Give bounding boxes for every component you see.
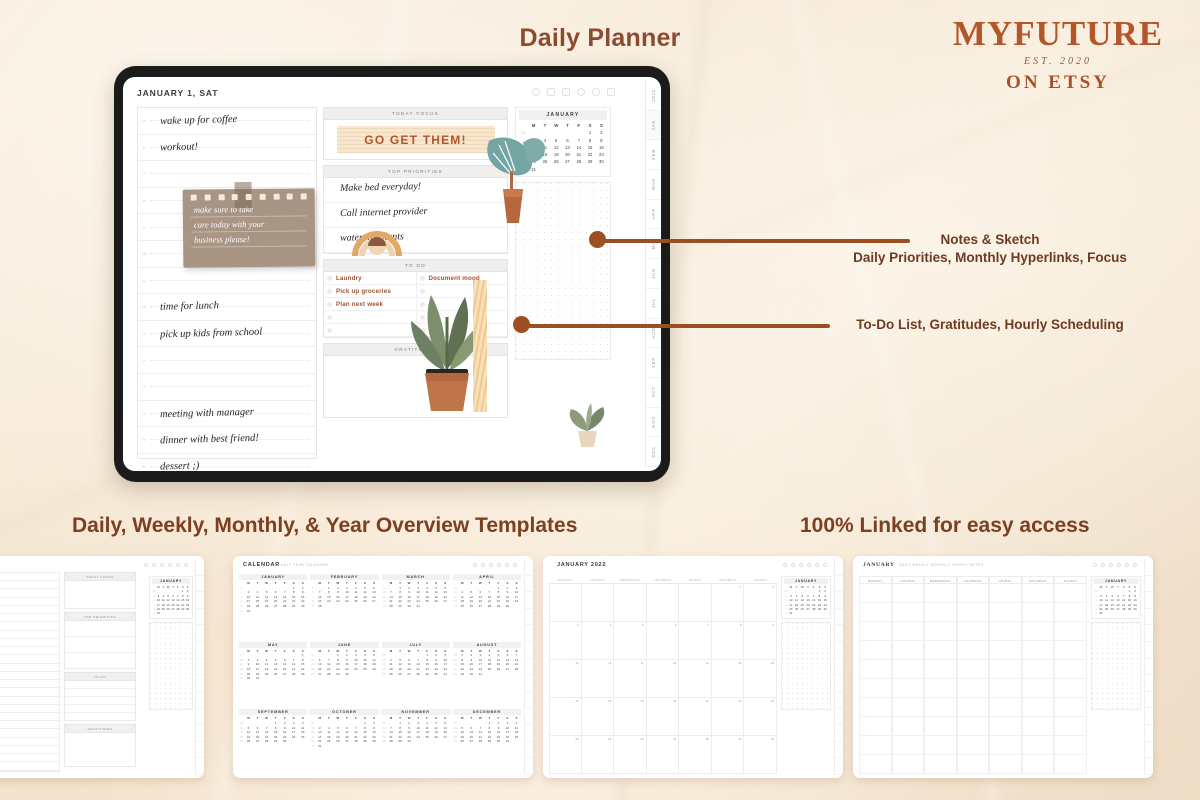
calendar-day[interactable]: [822, 611, 828, 615]
calendar-day[interactable]: 15: [584, 144, 595, 151]
month-day-cell[interactable]: 13: [647, 660, 680, 698]
calendar-day[interactable]: 28: [387, 604, 396, 609]
thumb-month-tab[interactable]: [1144, 675, 1153, 692]
calendar-day[interactable]: 30: [432, 672, 441, 677]
thumbnail-year-template[interactable]: CALENDAR HALF YEAR CALENDAR JANUARYMTWTF…: [233, 556, 533, 778]
calendar-day[interactable]: 28: [262, 739, 271, 744]
thumbnail-weekly-template[interactable]: JANUARY DAILY WEEKLY MONTHLY YEARLY NOTE…: [853, 556, 1153, 778]
month-day-cell[interactable]: 28: [679, 736, 712, 774]
thumb-month-tabs[interactable]: [195, 559, 204, 775]
week-day-cell[interactable]: [924, 736, 957, 755]
checkbox-icon[interactable]: [327, 328, 332, 333]
month-day-cell[interactable]: [582, 584, 615, 622]
hourly-row[interactable]: 11: [138, 268, 316, 295]
week-day-cell[interactable]: [924, 641, 957, 660]
checkbox-icon[interactable]: [327, 276, 332, 281]
hourly-schedule[interactable]: 5wake up for coffee6workout!789101112tim…: [137, 107, 317, 459]
week-day-cell[interactable]: [1054, 755, 1087, 774]
hourly-row[interactable]: 7: [138, 161, 316, 188]
calendar-day[interactable]: 29: [584, 158, 595, 165]
calendar-day[interactable]: [512, 672, 521, 677]
week-day-cell[interactable]: [892, 584, 925, 603]
calendar-day[interactable]: [324, 604, 333, 609]
week-day-cell[interactable]: [924, 755, 957, 774]
calendar-day[interactable]: 23: [596, 151, 607, 158]
week-day-cell[interactable]: [1022, 603, 1055, 622]
hourly-row[interactable]: 12time for lunch: [138, 294, 316, 321]
thumb-month-tab[interactable]: [524, 692, 533, 709]
calendar-day[interactable]: 30: [405, 604, 414, 609]
thumb-month-tab[interactable]: [524, 609, 533, 626]
calendar-day[interactable]: [262, 676, 271, 681]
week-day-cell[interactable]: [892, 679, 925, 698]
week-day-cell[interactable]: [1022, 660, 1055, 679]
month-tab-nov[interactable]: NOV: [645, 408, 661, 438]
calendar-day[interactable]: [596, 166, 607, 173]
calendar-day[interactable]: [333, 604, 342, 609]
calendar-day[interactable]: 30: [405, 739, 414, 744]
calendar-day[interactable]: [298, 739, 307, 744]
year-month-block[interactable]: DECEMBERMTWTFSS4512344656789101147121314…: [453, 709, 521, 774]
week-day-cell[interactable]: [924, 584, 957, 603]
month-day-cell[interactable]: 2: [744, 584, 777, 622]
calendar-day[interactable]: 28: [476, 739, 485, 744]
calendar-day[interactable]: 28: [387, 739, 396, 744]
week-day-cell[interactable]: [859, 660, 892, 679]
thumb-month-tab[interactable]: [195, 659, 204, 676]
calendar-day[interactable]: 30: [503, 604, 512, 609]
calendar-day[interactable]: 21: [573, 151, 584, 158]
thumb-month-tabs[interactable]: [834, 559, 843, 775]
calendar-day[interactable]: [573, 129, 584, 136]
eraser-icon[interactable]: [562, 88, 570, 96]
week-day-cell[interactable]: [892, 717, 925, 736]
month-tab-dec[interactable]: DEC: [645, 437, 661, 467]
calendar-day[interactable]: [414, 739, 423, 744]
week-day-cell[interactable]: [957, 736, 990, 755]
hourly-row[interactable]: 6workout!: [138, 135, 316, 162]
calendar-day[interactable]: 7: [573, 137, 584, 144]
week-day-cell[interactable]: [892, 755, 925, 774]
month-tab-strip[interactable]: 2022JANFEBMARAPRMAYJUNJULAUGSEPOCTNOVDEC: [645, 81, 661, 467]
calendar-day[interactable]: [441, 739, 450, 744]
thumb-month-tab[interactable]: [834, 659, 843, 676]
month-day-cell[interactable]: 30: [744, 736, 777, 774]
month-day-cell[interactable]: 22: [712, 698, 745, 736]
week-day-cell[interactable]: [957, 641, 990, 660]
month-day-cell[interactable]: 4: [582, 622, 615, 660]
month-day-cell[interactable]: 24: [549, 736, 582, 774]
week-day-cell[interactable]: [1054, 584, 1087, 603]
thumb-month-tab[interactable]: [195, 758, 204, 775]
week-day-cell[interactable]: [1022, 622, 1055, 641]
thumb-month-tab[interactable]: [834, 725, 843, 742]
thumb-month-tab[interactable]: [1144, 625, 1153, 642]
week-day-cell[interactable]: [989, 603, 1022, 622]
month-day-cell[interactable]: 29: [712, 736, 745, 774]
hourly-row[interactable]: 5wake up for coffee: [138, 108, 316, 135]
calendar-day[interactable]: [351, 672, 360, 677]
calendar-day[interactable]: 27: [315, 672, 324, 677]
week-day-cell[interactable]: [859, 679, 892, 698]
calendar-day[interactable]: 29: [485, 739, 494, 744]
calendar-day[interactable]: 29: [271, 739, 280, 744]
calendar-day[interactable]: [432, 739, 441, 744]
month-day-cell[interactable]: 25: [582, 736, 615, 774]
week-day-cell[interactable]: [924, 660, 957, 679]
calendar-day[interactable]: [512, 604, 521, 609]
thumb-month-tab[interactable]: [195, 725, 204, 742]
week-day-cell[interactable]: [1022, 755, 1055, 774]
thumb-month-tab[interactable]: [1144, 576, 1153, 593]
calendar-day[interactable]: 27: [476, 604, 485, 609]
week-day-cell[interactable]: [1054, 698, 1087, 717]
week-day-cell[interactable]: [989, 622, 1022, 641]
thumb-month-tab[interactable]: [834, 592, 843, 609]
thumb-month-tabs[interactable]: [1144, 559, 1153, 775]
week-day-cell[interactable]: [989, 755, 1022, 774]
week-day-cell[interactable]: [924, 717, 957, 736]
calendar-day[interactable]: [584, 166, 595, 173]
undo-icon[interactable]: [532, 88, 540, 96]
calendar-day[interactable]: [185, 611, 190, 615]
calendar-day[interactable]: 27: [253, 739, 262, 744]
calendar-day[interactable]: 6: [562, 137, 573, 144]
year-month-block[interactable]: NOVEMBERMTWTFSS4112345642789101112134314…: [382, 709, 450, 774]
calendar-day[interactable]: [289, 609, 298, 614]
week-day-cell[interactable]: [1022, 641, 1055, 660]
calendar-day[interactable]: 28: [573, 158, 584, 165]
week-day-cell[interactable]: [924, 679, 957, 698]
month-day-cell[interactable]: 1: [712, 584, 745, 622]
calendar-day[interactable]: 25: [387, 672, 396, 677]
checkbox-icon[interactable]: [327, 289, 332, 294]
week-day-cell[interactable]: [1054, 660, 1087, 679]
month-day-cell[interactable]: [647, 584, 680, 622]
month-tab-aug[interactable]: AUG: [645, 319, 661, 349]
calendar-day[interactable]: 28: [485, 604, 494, 609]
calendar-day[interactable]: 31: [414, 604, 423, 609]
week-day-cell[interactable]: [989, 641, 1022, 660]
thumb-month-tab[interactable]: [1144, 758, 1153, 775]
calendar-day[interactable]: [432, 604, 441, 609]
calendar-day[interactable]: 31: [253, 676, 262, 681]
week-day-cell[interactable]: [859, 584, 892, 603]
calendar-day[interactable]: [253, 609, 262, 614]
calendar-day[interactable]: [503, 672, 512, 677]
calendar-day[interactable]: [280, 676, 289, 681]
monthly-calendar-grid[interactable]: MONDAYTUESDAYWEDNESDAYTHURSDAYFRIDAYSATU…: [549, 576, 777, 774]
calendar-day[interactable]: 26: [467, 604, 476, 609]
calendar-day[interactable]: 29: [333, 672, 342, 677]
week-day-cell[interactable]: [892, 603, 925, 622]
thumb-month-tab[interactable]: [524, 659, 533, 676]
thumb-month-tab[interactable]: [1144, 708, 1153, 725]
thumb-month-tabs[interactable]: [524, 559, 533, 775]
year-month-block[interactable]: MAYMTWTFSS171182345678199101112131415201…: [239, 642, 307, 707]
thumb-month-tab[interactable]: [1144, 725, 1153, 742]
week-day-cell[interactable]: [957, 603, 990, 622]
week-day-cell[interactable]: [957, 584, 990, 603]
weekly-grid[interactable]: MONDAYTUESDAYWEDNESDAYTHURSDAYFRIDAYSATU…: [859, 576, 1087, 774]
calendar-day[interactable]: [441, 604, 450, 609]
month-day-cell[interactable]: 20: [647, 698, 680, 736]
thumb-month-tab[interactable]: [195, 742, 204, 759]
calendar-day[interactable]: [351, 604, 360, 609]
calendar-day[interactable]: [369, 744, 378, 749]
calendar-day[interactable]: 25: [458, 604, 467, 609]
week-day-cell[interactable]: [1022, 736, 1055, 755]
thumb-month-tab[interactable]: [195, 576, 204, 593]
week-day-cell[interactable]: [892, 622, 925, 641]
month-day-cell[interactable]: 23: [744, 698, 777, 736]
year-month-block[interactable]: JUNEMTWTFSS21123452267891011122313141516…: [310, 642, 378, 707]
calendar-day[interactable]: [360, 604, 369, 609]
week-day-cell[interactable]: [892, 698, 925, 717]
thumb-month-tab[interactable]: [195, 592, 204, 609]
week-day-cell[interactable]: [859, 622, 892, 641]
month-day-cell[interactable]: [679, 584, 712, 622]
month-day-cell[interactable]: 11: [582, 660, 615, 698]
month-day-cell[interactable]: 9: [744, 622, 777, 660]
planner-toolbar[interactable]: [532, 88, 615, 96]
calendar-day[interactable]: 9: [596, 137, 607, 144]
calendar-day[interactable]: 30: [244, 676, 253, 681]
month-day-cell[interactable]: 21: [679, 698, 712, 736]
hourly-row[interactable]: 6dessert ;): [138, 454, 316, 471]
week-day-cell[interactable]: [892, 660, 925, 679]
week-day-cell[interactable]: [1054, 679, 1087, 698]
thumb-month-tab[interactable]: [195, 692, 204, 709]
month-day-cell[interactable]: 18: [582, 698, 615, 736]
tablet-screen[interactable]: JANUARY 1, SAT 5wake up for coffee6worko…: [123, 77, 661, 471]
thumb-month-tab[interactable]: [195, 559, 204, 576]
thumb-month-tab[interactable]: [195, 625, 204, 642]
month-tab-feb[interactable]: FEB: [645, 140, 661, 170]
calendar-day[interactable]: 1: [584, 129, 595, 136]
calendar-day[interactable]: [342, 604, 351, 609]
year-month-block[interactable]: JANUARYMTWTFSS11223456789310111213141516…: [239, 574, 307, 639]
thumb-month-tab[interactable]: [524, 642, 533, 659]
calendar-day[interactable]: 26: [244, 739, 253, 744]
calendar-day[interactable]: 8: [584, 137, 595, 144]
thumb-month-tab[interactable]: [524, 592, 533, 609]
calendar-day[interactable]: 29: [458, 672, 467, 677]
week-day-cell[interactable]: [1054, 736, 1087, 755]
week-day-cell[interactable]: [989, 717, 1022, 736]
month-tab-2022[interactable]: 2022: [645, 81, 661, 111]
calendar-day[interactable]: 22: [584, 151, 595, 158]
calendar-day[interactable]: 19: [551, 151, 562, 158]
year-month-block[interactable]: OCTOBERMTWTFSS37123834567893910111213141…: [310, 709, 378, 774]
thumb-month-tab[interactable]: [524, 559, 533, 576]
week-day-cell[interactable]: [957, 755, 990, 774]
thumb-month-tab[interactable]: [195, 708, 204, 725]
calendar-day[interactable]: 12: [551, 144, 562, 151]
calendar-day[interactable]: [289, 676, 298, 681]
calendar-day[interactable]: [333, 744, 342, 749]
calendar-day[interactable]: [280, 609, 289, 614]
calendar-day[interactable]: 16: [596, 144, 607, 151]
calendar-day[interactable]: [369, 672, 378, 677]
calendar-day[interactable]: [551, 166, 562, 173]
thumb-month-tab[interactable]: [834, 675, 843, 692]
week-day-cell[interactable]: [989, 736, 1022, 755]
thumbnail-monthly-template[interactable]: JANUARY 2022 MONDAYTUESDAYWEDNESDAYTHURS…: [543, 556, 843, 778]
hourly-row[interactable]: 1pick up kids from school: [138, 321, 316, 348]
thumb-month-tab[interactable]: [834, 609, 843, 626]
calendar-day[interactable]: [298, 609, 307, 614]
calendar-day[interactable]: 27: [562, 158, 573, 165]
week-day-cell[interactable]: [957, 622, 990, 641]
month-day-cell[interactable]: 12: [614, 660, 647, 698]
calendar-day[interactable]: [360, 744, 369, 749]
calendar-day[interactable]: 29: [423, 672, 432, 677]
thumb-month-tab[interactable]: [834, 692, 843, 709]
calendar-day[interactable]: 29: [494, 604, 503, 609]
month-day-cell[interactable]: 3: [549, 622, 582, 660]
week-day-cell[interactable]: [924, 698, 957, 717]
month-day-cell[interactable]: 17: [549, 698, 582, 736]
calendar-day[interactable]: 30: [342, 672, 351, 677]
calendar-day[interactable]: 31: [503, 739, 512, 744]
sticky-note[interactable]: make sure to take care today with your b…: [183, 188, 316, 267]
thumb-month-tab[interactable]: [1144, 692, 1153, 709]
calendar-day[interactable]: [324, 744, 333, 749]
calendar-day[interactable]: [494, 672, 503, 677]
calendar-day[interactable]: 28: [324, 672, 333, 677]
month-day-cell[interactable]: 14: [679, 660, 712, 698]
thumb-month-tab[interactable]: [834, 708, 843, 725]
hourly-row[interactable]: 2: [138, 347, 316, 374]
week-day-cell[interactable]: [924, 622, 957, 641]
calendar-day[interactable]: [351, 744, 360, 749]
calendar-day[interactable]: [262, 609, 271, 614]
year-calendar-grid[interactable]: JANUARYMTWTFSS11223456789310111213141516…: [239, 574, 521, 774]
calendar-day[interactable]: 26: [396, 672, 405, 677]
calendar-day[interactable]: [562, 129, 573, 136]
calendar-day[interactable]: 27: [405, 672, 414, 677]
thumb-month-tab[interactable]: [1144, 742, 1153, 759]
month-day-cell[interactable]: 6: [647, 622, 680, 660]
week-day-cell[interactable]: [957, 660, 990, 679]
week-day-cell[interactable]: [1022, 698, 1055, 717]
calendar-day[interactable]: 30: [596, 158, 607, 165]
thumb-month-tab[interactable]: [834, 742, 843, 759]
thumb-month-tab[interactable]: [1144, 642, 1153, 659]
month-tab-mar[interactable]: MAR: [645, 170, 661, 200]
thumb-month-tab[interactable]: [834, 576, 843, 593]
calendar-day[interactable]: 26: [458, 739, 467, 744]
hourly-row[interactable]: 4meeting with manager: [138, 401, 316, 428]
note-icon[interactable]: [607, 88, 615, 96]
calendar-day[interactable]: 26: [551, 158, 562, 165]
week-day-cell[interactable]: [859, 603, 892, 622]
week-day-cell[interactable]: [957, 698, 990, 717]
calendar-day[interactable]: 31: [441, 672, 450, 677]
month-tab-may[interactable]: MAY: [645, 229, 661, 259]
week-day-cell[interactable]: [1022, 679, 1055, 698]
week-day-cell[interactable]: [1054, 622, 1087, 641]
pen-icon[interactable]: [547, 88, 555, 96]
year-month-block[interactable]: SEPTEMBERMTWTFSS331234345678910113512131…: [239, 709, 307, 774]
year-month-block[interactable]: JULYMTWTFSS25123264567891027111213141516…: [382, 642, 450, 707]
week-day-cell[interactable]: [859, 755, 892, 774]
calendar-day[interactable]: 29: [396, 739, 405, 744]
month-day-cell[interactable]: 7: [679, 622, 712, 660]
year-month-block[interactable]: MARCHMTWTFSS9123456107891011121311141516…: [382, 574, 450, 639]
month-day-cell[interactable]: [549, 584, 582, 622]
month-day-cell[interactable]: 27: [647, 736, 680, 774]
hourly-row[interactable]: 5dinner with best friend!: [138, 427, 316, 454]
week-day-cell[interactable]: [989, 584, 1022, 603]
thumb-month-tab[interactable]: [1144, 592, 1153, 609]
calendar-day[interactable]: [1132, 611, 1138, 615]
clock-icon[interactable]: [592, 88, 600, 96]
thumb-month-tab[interactable]: [524, 675, 533, 692]
thumb-month-tab[interactable]: [1144, 609, 1153, 626]
calendar-day[interactable]: [573, 166, 584, 173]
circle-icon[interactable]: [577, 88, 585, 96]
calendar-day[interactable]: 30: [494, 739, 503, 744]
month-day-cell[interactable]: 19: [614, 698, 647, 736]
week-day-cell[interactable]: [859, 698, 892, 717]
thumb-month-tab[interactable]: [834, 758, 843, 775]
month-day-cell[interactable]: 8: [712, 622, 745, 660]
thumb-month-tab[interactable]: [195, 675, 204, 692]
calendar-day[interactable]: [423, 604, 432, 609]
month-day-cell[interactable]: [614, 584, 647, 622]
week-day-cell[interactable]: [892, 736, 925, 755]
thumb-month-tab[interactable]: [524, 725, 533, 742]
month-tab-oct[interactable]: OCT: [645, 378, 661, 408]
thumb-month-tab[interactable]: [834, 642, 843, 659]
month-day-cell[interactable]: 15: [712, 660, 745, 698]
year-month-block[interactable]: FEBRUARYMTWTFSS5123456678910111213714151…: [310, 574, 378, 639]
week-day-cell[interactable]: [1054, 717, 1087, 736]
week-day-cell[interactable]: [957, 717, 990, 736]
calendar-day[interactable]: 2: [596, 129, 607, 136]
month-day-cell[interactable]: 26: [614, 736, 647, 774]
week-day-cell[interactable]: [1022, 717, 1055, 736]
thumb-month-tab[interactable]: [524, 708, 533, 725]
week-day-cell[interactable]: [1022, 584, 1055, 603]
thumb-month-tab[interactable]: [524, 742, 533, 759]
calendar-day[interactable]: 30: [467, 672, 476, 677]
year-month-block[interactable]: AUGUSTMTWTFSS291234567308910111213143115…: [453, 642, 521, 707]
checkbox-icon[interactable]: [327, 302, 332, 307]
thumb-month-tab[interactable]: [195, 609, 204, 626]
calendar-day[interactable]: [271, 609, 280, 614]
thumb-month-tab[interactable]: [524, 758, 533, 775]
month-tab-apr[interactable]: APR: [645, 200, 661, 230]
month-day-cell[interactable]: 10: [549, 660, 582, 698]
thumb-month-tab[interactable]: [524, 625, 533, 642]
week-day-cell[interactable]: [989, 698, 1022, 717]
month-tab-sep[interactable]: SEP: [645, 348, 661, 378]
month-day-cell[interactable]: 16: [744, 660, 777, 698]
checkbox-icon[interactable]: [327, 315, 332, 320]
month-day-cell[interactable]: 5: [614, 622, 647, 660]
thumb-month-tab[interactable]: [524, 576, 533, 593]
calendar-day[interactable]: [485, 672, 494, 677]
week-day-cell[interactable]: [924, 603, 957, 622]
month-tab-jul[interactable]: JUL: [645, 289, 661, 319]
calendar-day[interactable]: 5: [551, 137, 562, 144]
year-month-block[interactable]: APRILMTWTFSS1312314456789101511121314151…: [453, 574, 521, 639]
thumb-month-tab[interactable]: [834, 559, 843, 576]
week-day-cell[interactable]: [989, 679, 1022, 698]
